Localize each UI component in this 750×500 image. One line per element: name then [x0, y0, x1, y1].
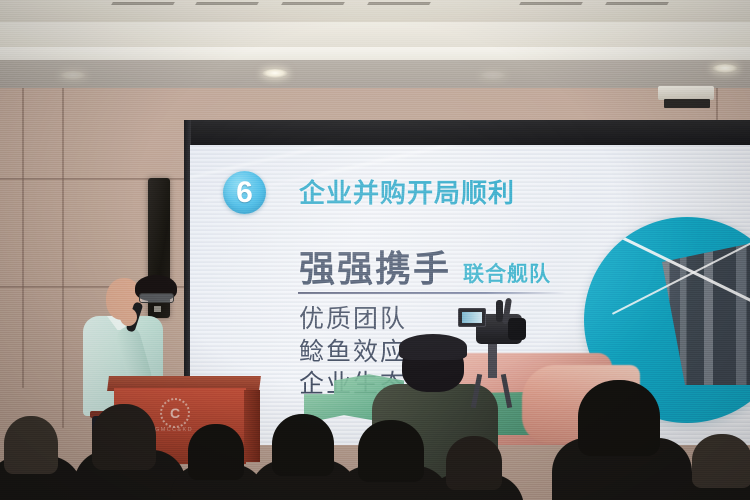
slide-headline-rule — [298, 292, 566, 294]
slide-headline-sub: 联合舰队 — [463, 258, 551, 292]
audience-head — [92, 404, 156, 470]
video-camera — [458, 300, 530, 408]
downlight-icon — [712, 64, 738, 73]
camera-lens-icon — [508, 318, 526, 340]
ceiling-vent-slot — [664, 99, 710, 108]
audience-head — [578, 380, 660, 456]
slide-headline-main: 强强携手 — [299, 240, 451, 292]
audience-head — [4, 416, 58, 474]
audience-head — [188, 424, 244, 480]
ceiling-vent — [658, 86, 714, 100]
slide-title: 企业并购开局顺利 — [299, 173, 515, 210]
audience-head — [692, 434, 750, 488]
conference-photo: 6 企业并购开局顺利 强强携手 联合舰队 优质团队 鲶鱼效应 企业生态 优势互补… — [0, 0, 750, 500]
audience-head — [358, 420, 424, 482]
camera-lcd-screen — [458, 308, 486, 327]
presenter-hand — [120, 308, 137, 326]
screen-bezel-top — [184, 120, 750, 146]
operator-cap — [399, 334, 467, 360]
audience-head — [272, 414, 334, 476]
audience — [0, 396, 750, 500]
tripod-column — [488, 342, 497, 378]
slide-headline: 强强携手 联合舰队 — [299, 240, 551, 292]
ceiling-slab — [0, 0, 750, 24]
wall-seam — [22, 88, 24, 388]
audience-head — [446, 436, 502, 490]
wall-seam — [62, 88, 64, 428]
ceiling-band-lower — [0, 60, 750, 88]
glasses-icon — [139, 293, 174, 303]
slide-number-badge: 6 — [223, 171, 266, 214]
downlight-icon — [480, 71, 506, 80]
ceiling-band-upper — [0, 22, 750, 49]
downlight-icon — [60, 71, 86, 80]
downlight-icon — [262, 69, 288, 78]
